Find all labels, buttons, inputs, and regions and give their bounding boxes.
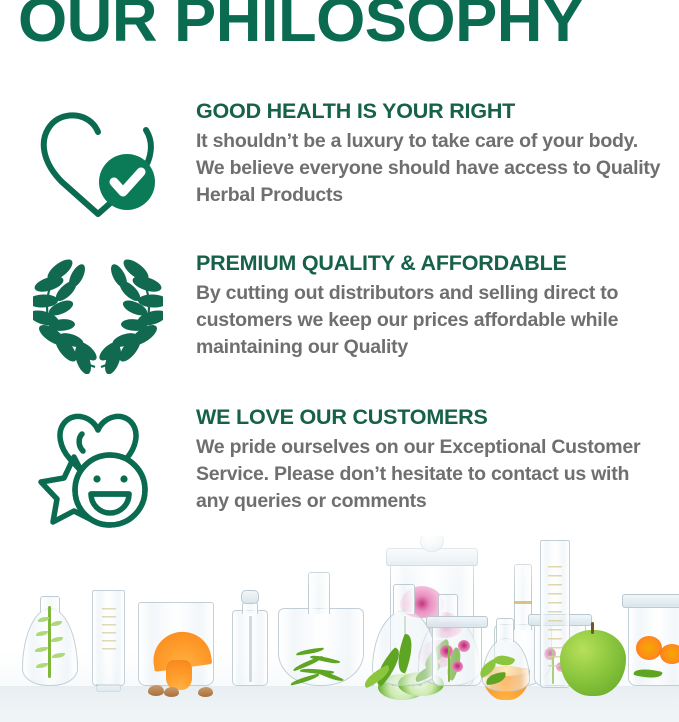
pink-flower	[544, 648, 556, 660]
feature-icon-cell	[0, 402, 196, 532]
flask-calibration-band	[514, 601, 532, 604]
feature-icon-cell	[0, 96, 196, 220]
feature-heading: PREMIUM QUALITY & AFFORDABLE	[196, 250, 666, 276]
dropper-cap	[241, 590, 259, 604]
laurel-wreath-icon	[33, 254, 163, 374]
apothecary-jar-rim	[528, 614, 592, 626]
feature-text-cell: GOOD HEALTH IS YOUR RIGHT It shouldn’t b…	[196, 96, 676, 209]
right-side-erlenmeyer	[420, 684, 422, 686]
feature-heading: GOOD HEALTH IS YOUR RIGHT	[196, 98, 666, 124]
feature-body: By cutting out distributors and selling …	[196, 280, 666, 361]
flask-long-leaves	[392, 684, 394, 686]
pink-flower	[562, 643, 573, 654]
pink-flower	[556, 662, 566, 672]
small-flask-with-mint	[598, 684, 600, 686]
feature-body: It shouldn’t be a luxury to take care of…	[196, 128, 666, 209]
almond	[148, 685, 164, 696]
round-flask-neck	[308, 572, 330, 614]
leaf-flask	[378, 684, 380, 686]
orchid-stem	[404, 616, 406, 678]
cylinder-graduation-marks	[102, 608, 116, 652]
dropper-pipette	[249, 616, 252, 682]
feature-text-cell: WE LOVE OUR CUSTOMERS We pride ourselves…	[196, 402, 676, 515]
feature-heading: WE LOVE OUR CUSTOMERS	[196, 404, 666, 430]
right-flask-leaves	[96, 684, 98, 686]
feature-row: PREMIUM QUALITY & AFFORDABLE By cutting …	[0, 248, 679, 388]
feature-text-cell: PREMIUM QUALITY & AFFORDABLE By cutting …	[196, 248, 676, 361]
flower-stem	[552, 650, 554, 684]
heart-star-smiley-icon	[36, 408, 161, 532]
sage-flask-neck	[438, 594, 458, 622]
right-erlenmeyer-flask	[412, 684, 414, 686]
feature-icon-cell	[0, 248, 196, 374]
orange-half-flesh	[486, 666, 526, 676]
botanical-glassware-photo	[0, 536, 679, 722]
feature-body: We pride ourselves on our Exceptional Cu…	[196, 434, 666, 515]
flask-with-green-leaves	[398, 684, 400, 686]
almond	[164, 687, 179, 697]
flask-with-long-leaves	[408, 684, 410, 686]
page-title: OUR PHILOSOPHY	[18, 0, 679, 56]
philosophy-infographic: OUR PHILOSOPHY GOOD HEALTH IS YOUR RIGHT…	[0, 0, 679, 722]
feature-row: GOOD HEALTH IS YOUR RIGHT It shouldn’t b…	[0, 96, 679, 236]
erlenmeyer-flask-right	[372, 684, 374, 686]
flask-with-mint-sprig	[596, 684, 598, 686]
heart-check-icon	[38, 102, 158, 220]
apothecary-jar-with-pink-flowers	[534, 622, 586, 686]
cylinder-base	[96, 684, 121, 692]
feature-row: WE LOVE OUR CUSTOMERS We pride ourselves…	[0, 402, 679, 542]
orange-wedge-lower	[166, 660, 192, 690]
almond	[198, 687, 213, 697]
